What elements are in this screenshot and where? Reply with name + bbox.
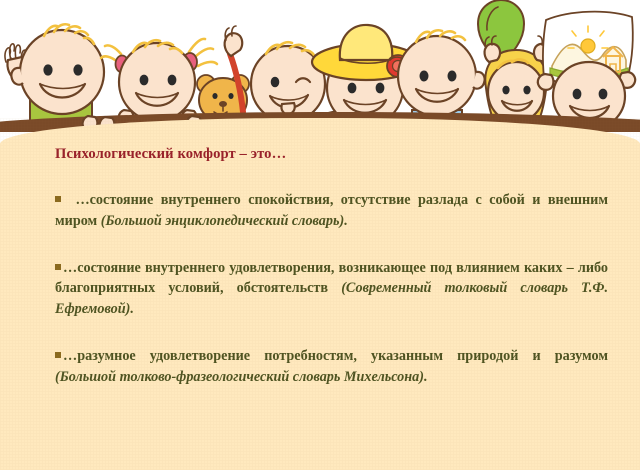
page-title: Психологический комфорт – это… [55, 146, 608, 163]
list-item: …состояние внутреннего спокойствия, отсу… [55, 190, 608, 232]
text-area: Психологический комфорт – это… …состояни… [55, 146, 608, 388]
figure-child-winking [251, 42, 325, 122]
header-illustration-band: .ol { fill:none; stroke:#6b4326; stroke-… [0, 0, 640, 132]
square-bullet-icon [55, 196, 61, 202]
cartoon-children-row-illustration: .ol { fill:none; stroke:#6b4326; stroke-… [0, 0, 640, 132]
figure-child-waving-green-shirt [5, 24, 104, 122]
slide: .ol { fill:none; stroke:#6b4326; stroke-… [0, 0, 640, 470]
square-bullet-icon [55, 264, 61, 270]
content-panel: Психологический комфорт – это… …состояни… [0, 118, 640, 470]
sun-icon [581, 39, 595, 53]
square-bullet-icon [55, 352, 61, 358]
list-item: …состояние внутреннего удовлетворения, в… [55, 258, 608, 321]
bullet-source: (Большой толково-фразеологический словар… [55, 369, 428, 385]
bullet-text: …разумное удовлетворение потребностям, у… [63, 348, 608, 364]
list-item: …разумное удовлетворение потребностям, у… [55, 346, 608, 388]
figure-child-blue-collar [398, 30, 485, 126]
figure-child-holding-drawing [538, 12, 635, 130]
bullet-source: (Большой энциклопедический словарь). [101, 213, 348, 229]
